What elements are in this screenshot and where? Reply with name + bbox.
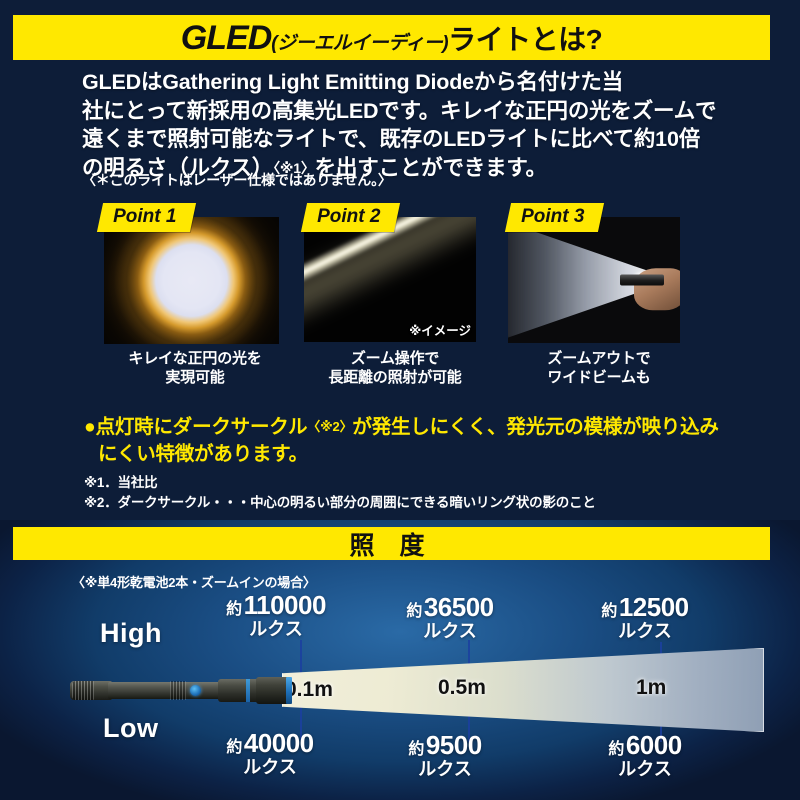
dark-circle-line-1-b: が発生しにくく、発光元の模様が映り込み [352, 416, 718, 438]
mode-label-low: Low [103, 713, 159, 744]
point-image-2: ※イメージ [304, 217, 476, 342]
flashlight-accent-ring-2 [246, 679, 250, 702]
brand-reading: (ジーエルイーディー) [271, 33, 448, 54]
footnotes: ※1．当社比 ※2．ダークサークル・・・中心の明るい部分の周囲にできる暗いリング… [84, 473, 596, 514]
lux-value-high-0: 約110000 ルクス [186, 592, 366, 639]
lux-number-high-0: 約110000 [186, 592, 366, 619]
distance-label-1: 0.5m [438, 676, 486, 700]
point-caption-2-line-1: ズーム操作で [304, 349, 486, 368]
footnote-ref-2: 〈※2〉 [307, 419, 352, 434]
point-tag-1: Point 1 [97, 203, 197, 232]
intro-line-3: 遠くまで照射可能なライトで、既存のLEDライトに比べて約10倍 [82, 125, 727, 154]
lux-unit-high-1: ルクス [370, 622, 530, 641]
intro-line-2: 社にとって新採用の高集光LEDです。キレイな正円の光をズームで [82, 97, 727, 126]
point-caption-1: キレイな正円の光を 実現可能 [104, 349, 286, 387]
lux-value-low-1: 約9500 ルクス [365, 732, 525, 779]
flashlight-diagram-icon [70, 674, 294, 706]
distance-label-2: 1m [636, 676, 666, 700]
footnote-2: ※2．ダークサークル・・・中心の明るい部分の周囲にできる暗いリング状の影のこと [84, 493, 596, 513]
mode-label-high: High [100, 618, 162, 649]
lux-unit-high-2: ルクス [560, 622, 730, 641]
lux-unit-high-0: ルクス [186, 620, 366, 639]
point-caption-2: ズーム操作で 長距離の照射が可能 [304, 349, 486, 387]
flashlight-grip [170, 681, 186, 700]
flashlight-accent-ring [286, 677, 292, 704]
section-title-bar: 照 度 [13, 527, 770, 560]
lux-value-low-0: 約40000 ルクス [180, 730, 360, 777]
lux-unit-low-1: ルクス [365, 760, 525, 779]
lux-number-low-2: 約6000 [560, 732, 730, 759]
flashlight-icon [620, 275, 664, 286]
flashlight-knurl [72, 681, 94, 700]
dark-circle-line-1: ●点灯時にダークサークル〈※2〉が発生しにくく、発光元の模様が映り込み [84, 414, 734, 441]
point-image-3 [508, 217, 680, 343]
round-beam-spot-icon [104, 217, 279, 344]
page-title-bar: GLED(ジーエルイーディー)ライトとは? [13, 15, 770, 60]
beam-wedge [282, 648, 764, 732]
point-caption-3: ズームアウトで ワイドビームも [508, 349, 690, 387]
image-note-2: ※イメージ [409, 320, 471, 339]
intro-paragraph: GLEDはGathering Light Emitting Diodeから名付け… [82, 68, 727, 182]
intro-line-1: GLEDはGathering Light Emitting Diodeから名付け… [82, 68, 727, 97]
point-caption-3-line-2: ワイドビームも [508, 368, 690, 387]
infographic-page: GLED(ジーエルイーディー)ライトとは? GLEDはGathering Lig… [0, 0, 800, 800]
wide-beam-cone-icon [508, 217, 680, 343]
point-caption-2-line-2: 長距離の照射が可能 [304, 368, 486, 387]
dark-circle-line-2: にくい特徴があります。 [84, 441, 734, 468]
lux-number-low-1: 約9500 [365, 732, 525, 759]
point-caption-1-line-2: 実現可能 [104, 368, 286, 387]
lux-number-high-1: 約36500 [370, 594, 530, 621]
title-tail: ライトとは? [448, 24, 602, 55]
point-caption-1-line-1: キレイな正円の光を [104, 349, 286, 368]
point-tag-2: Point 2 [301, 203, 401, 232]
point-image-1 [104, 217, 279, 344]
lux-number-low-0: 約40000 [180, 730, 360, 757]
lux-number-high-2: 約12500 [560, 594, 730, 621]
illuminance-chart: High Low 0.1m 0.5m 1m 約110000 ルクス 約36500… [0, 592, 800, 800]
lux-value-low-2: 約6000 ルクス [560, 732, 730, 779]
dark-circle-highlight: ●点灯時にダークサークル〈※2〉が発生しにくく、発光元の模様が映り込み にくい特… [84, 414, 734, 467]
lux-unit-low-2: ルクス [560, 760, 730, 779]
point-tag-3: Point 3 [505, 203, 605, 232]
condition-note: 〈※単4形乾電池2本・ズームインの場合〉 [72, 572, 316, 591]
lux-value-high-1: 約36500 ルクス [370, 594, 530, 641]
dark-circle-line-1-a: ●点灯時にダークサークル [84, 416, 307, 438]
brand-name: GLED [181, 19, 271, 57]
lux-unit-low-0: ルクス [180, 758, 360, 777]
point-caption-3-line-1: ズームアウトで [508, 349, 690, 368]
page-title: GLED(ジーエルイーディー)ライトとは? [181, 21, 602, 55]
lux-value-high-2: 約12500 ルクス [560, 594, 730, 641]
point-panels: Point 1 キレイな正円の光を 実現可能 Point 2 ※イメージ ズーム… [0, 203, 800, 398]
laser-disclaimer: 〈＊このライトはレーザー仕様ではありません。〉 [82, 170, 392, 190]
section-title: 照 度 [350, 526, 434, 562]
power-button-icon [190, 685, 201, 696]
footnote-1: ※1．当社比 [84, 473, 596, 493]
